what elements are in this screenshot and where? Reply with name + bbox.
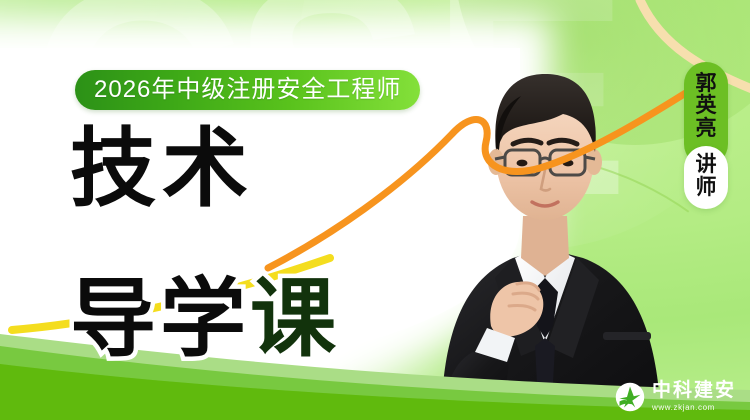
brand-logo-text: 中科建安 www.zkjan.com <box>652 381 736 412</box>
instructor-role-char-1: 师 <box>696 177 717 199</box>
brand-logo[interactable]: 中科建安 www.zkjan.com <box>615 381 736 412</box>
course-banner: 2026年中级注册安全工程师 <box>75 70 420 110</box>
zkjan-star-mark-icon <box>615 382 645 412</box>
headline-line-2-last: 课 <box>250 271 340 367</box>
headline-line-2: 导学课 <box>70 248 340 373</box>
instructor-name-char-0: 郭 <box>696 73 717 95</box>
brand-url: www.zkjan.com <box>652 404 736 412</box>
instructor-name-char-2: 亮 <box>696 118 717 140</box>
instructor-badge: 郭 英 亮 讲 师 <box>684 62 728 209</box>
banner-text: 2026年中级注册安全工程师 <box>94 78 401 102</box>
instructor-role-char-0: 讲 <box>696 154 717 176</box>
instructor-name-char-1: 英 <box>696 95 717 117</box>
headline-line-1: 技术 <box>70 128 254 211</box>
headline-line-2-main: 导学 <box>70 271 250 367</box>
course-poster: C S E <box>0 0 750 420</box>
brand-name: 中科建安 <box>652 381 736 400</box>
instructor-role-pill: 讲 师 <box>684 146 728 209</box>
headline-block: 技术 <box>70 128 254 211</box>
